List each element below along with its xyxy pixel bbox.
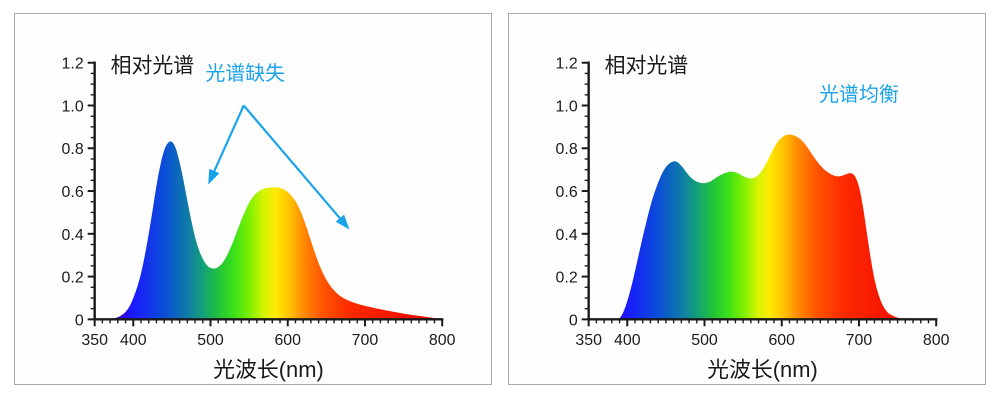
spectrum-curve-area (95, 141, 443, 319)
y-tick-label: 0.6 (556, 184, 578, 201)
y-tick-label: 0 (75, 312, 84, 329)
y-tick-label: 1.0 (556, 98, 578, 115)
y-tick-label: 0.6 (62, 184, 84, 201)
y-tick-label: 1.0 (62, 98, 84, 115)
x-tick-label: 800 (429, 332, 456, 349)
x-tick-label: 500 (197, 332, 224, 349)
annotation-label: 光谱均衡 (819, 83, 899, 106)
x-tick-label: 800 (923, 332, 950, 349)
y-tick-label: 0.4 (556, 227, 578, 244)
plot-title: 相对光谱 (605, 55, 689, 78)
x-tick-label: 600 (274, 332, 301, 349)
x-tick-label: 600 (768, 332, 795, 349)
x-tick-label: 350 (81, 332, 108, 349)
chart-panel-right: 35040050060070080000.20.40.60.81.01.2相对光… (508, 13, 986, 385)
x-tick-label: 500 (691, 332, 718, 349)
y-tick-label: 0.2 (556, 270, 578, 287)
x-tick-label: 400 (120, 332, 147, 349)
y-tick-label: 0 (569, 312, 578, 329)
spectrum-chart-left: 35040050060070080000.20.40.60.81.01.2相对光… (15, 14, 491, 384)
spectrum-chart-right: 35040050060070080000.20.40.60.81.01.2相对光… (509, 14, 985, 384)
chart-panel-left: 35040050060070080000.20.40.60.81.01.2相对光… (14, 13, 492, 385)
y-tick-label: 0.8 (62, 141, 84, 158)
x-tick-label: 350 (575, 332, 602, 349)
y-tick-label: 0.4 (62, 227, 84, 244)
annotation-arrow-head (208, 169, 219, 185)
x-tick-label: 700 (846, 332, 873, 349)
annotation-arrow-line (214, 106, 243, 172)
y-tick-label: 0.2 (62, 270, 84, 287)
x-tick-label: 700 (352, 332, 379, 349)
y-tick-label: 0.8 (556, 141, 578, 158)
x-axis-title: 光波长(nm) (213, 357, 324, 382)
annotation-label: 光谱缺失 (205, 62, 285, 85)
x-tick-label: 400 (614, 332, 641, 349)
plot-title: 相对光谱 (111, 55, 195, 78)
y-tick-label: 1.2 (62, 56, 84, 73)
figure-root: 35040050060070080000.20.40.60.81.01.2相对光… (0, 0, 1000, 401)
y-tick-label: 1.2 (556, 56, 578, 73)
x-axis-title: 光波长(nm) (707, 357, 818, 382)
spectrum-curve-area (589, 135, 937, 320)
